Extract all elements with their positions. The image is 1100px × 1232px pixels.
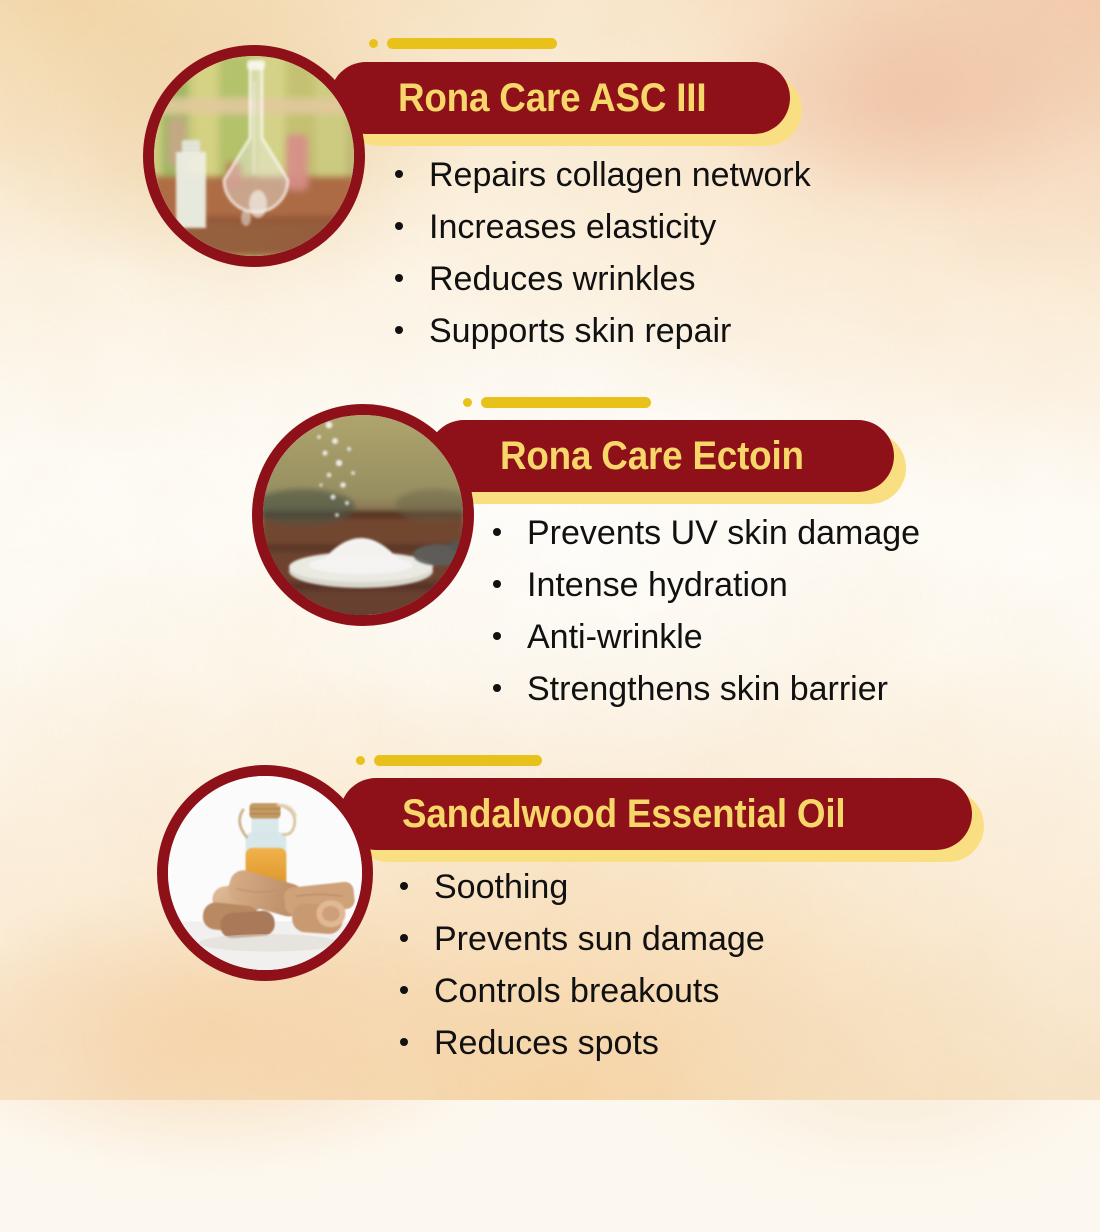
list-item-label: Increases elasticity — [429, 210, 716, 244]
benefit-list-3: Soothing Prevents sun damage Controls br… — [400, 870, 765, 1078]
bullet-icon — [400, 986, 408, 994]
list-item-label: Reduces wrinkles — [429, 262, 695, 296]
accent-dot-icon — [463, 398, 472, 407]
accent-dash-icon — [374, 755, 542, 766]
bullet-icon — [493, 632, 501, 640]
list-item-label: Prevents UV skin damage — [527, 516, 920, 550]
list-item: Reduces wrinkles — [395, 262, 811, 296]
bullet-icon — [395, 326, 403, 334]
list-item-label: Reduces spots — [434, 1026, 659, 1060]
banner-pill: Rona Care Ectoin — [428, 420, 894, 492]
section-title: Rona Care ASC III — [398, 76, 706, 121]
section-image-3 — [157, 765, 373, 981]
bullet-icon — [400, 934, 408, 942]
list-item-label: Controls breakouts — [434, 974, 719, 1008]
ingredient-sections: Rona Care ASC III — [0, 0, 1100, 1100]
list-item: Intense hydration — [493, 568, 920, 602]
title-banner-2: Rona Care Ectoin — [428, 420, 894, 492]
list-item-label: Intense hydration — [527, 568, 788, 602]
banner-pill: Sandalwood Essential Oil — [340, 778, 972, 850]
accent-dot-icon — [356, 756, 365, 765]
list-item: Soothing — [400, 870, 765, 904]
banner-pill: Rona Care ASC III — [330, 62, 790, 134]
accent-dash-icon — [481, 397, 651, 408]
list-item: Controls breakouts — [400, 974, 765, 1008]
bullet-icon — [395, 274, 403, 282]
laboratory-flask-photo — [154, 56, 354, 256]
bullet-icon — [493, 684, 501, 692]
accent-mark-1 — [369, 38, 557, 49]
list-item: Prevents UV skin damage — [493, 516, 920, 550]
list-item: Supports skin repair — [395, 314, 811, 348]
list-item-label: Strengthens skin barrier — [527, 672, 888, 706]
section-image-2 — [252, 404, 474, 626]
accent-dash-icon — [387, 38, 557, 49]
accent-mark-3 — [356, 755, 542, 766]
section-title: Rona Care Ectoin — [500, 434, 804, 479]
list-item: Increases elasticity — [395, 210, 811, 244]
list-item-label: Prevents sun damage — [434, 922, 765, 956]
section-title: Sandalwood Essential Oil — [402, 792, 845, 837]
benefit-list-1: Repairs collagen network Increases elast… — [395, 158, 811, 366]
accent-dot-icon — [369, 39, 378, 48]
list-item-label: Supports skin repair — [429, 314, 731, 348]
bullet-icon — [395, 222, 403, 230]
sandalwood-oil-bottle-photo — [168, 776, 362, 970]
white-powder-spoon-photo — [263, 415, 463, 615]
list-item: Strengthens skin barrier — [493, 672, 920, 706]
title-banner-3: Sandalwood Essential Oil — [340, 778, 972, 850]
bullet-icon — [400, 882, 408, 890]
list-item-label: Anti-wrinkle — [527, 620, 703, 654]
list-item: Prevents sun damage — [400, 922, 765, 956]
benefit-list-2: Prevents UV skin damage Intense hydratio… — [493, 516, 920, 724]
bullet-icon — [493, 528, 501, 536]
list-item-label: Soothing — [434, 870, 568, 904]
list-item: Anti-wrinkle — [493, 620, 920, 654]
accent-mark-2 — [463, 397, 651, 408]
bullet-icon — [395, 170, 403, 178]
bullet-icon — [400, 1038, 408, 1046]
title-banner-1: Rona Care ASC III — [330, 62, 790, 134]
list-item-label: Repairs collagen network — [429, 158, 811, 192]
bullet-icon — [493, 580, 501, 588]
list-item: Repairs collagen network — [395, 158, 811, 192]
list-item: Reduces spots — [400, 1026, 765, 1060]
section-image-1 — [143, 45, 365, 267]
